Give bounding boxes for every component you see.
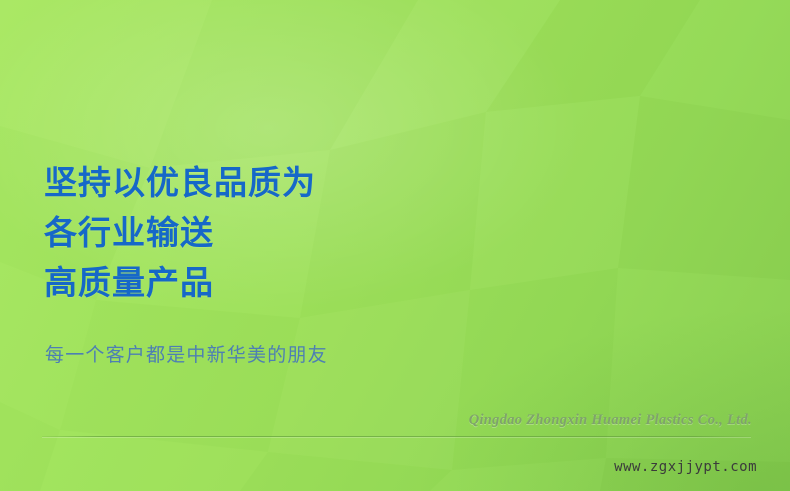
company-name-text: Qingdao Zhongxin Huamei Plastics Co., Lt… (469, 412, 752, 429)
website-url-text: www.zgxjjypt.com (614, 459, 757, 475)
subtitle-text: 每一个客户都是中新华美的朋友 (45, 340, 328, 367)
headline-line-2: 各行业输送 (44, 208, 316, 258)
headline-block: 坚持以优良品质为 各行业输送 高质量产品 (44, 158, 316, 308)
horizontal-divider (42, 436, 751, 437)
headline-line-3: 高质量产品 (44, 258, 316, 308)
promotional-banner: 坚持以优良品质为 各行业输送 高质量产品 每一个客户都是中新华美的朋友 Qing… (0, 0, 790, 491)
banner-content: 坚持以优良品质为 各行业输送 高质量产品 每一个客户都是中新华美的朋友 Qing… (0, 0, 790, 491)
headline-line-1: 坚持以优良品质为 (44, 158, 316, 208)
